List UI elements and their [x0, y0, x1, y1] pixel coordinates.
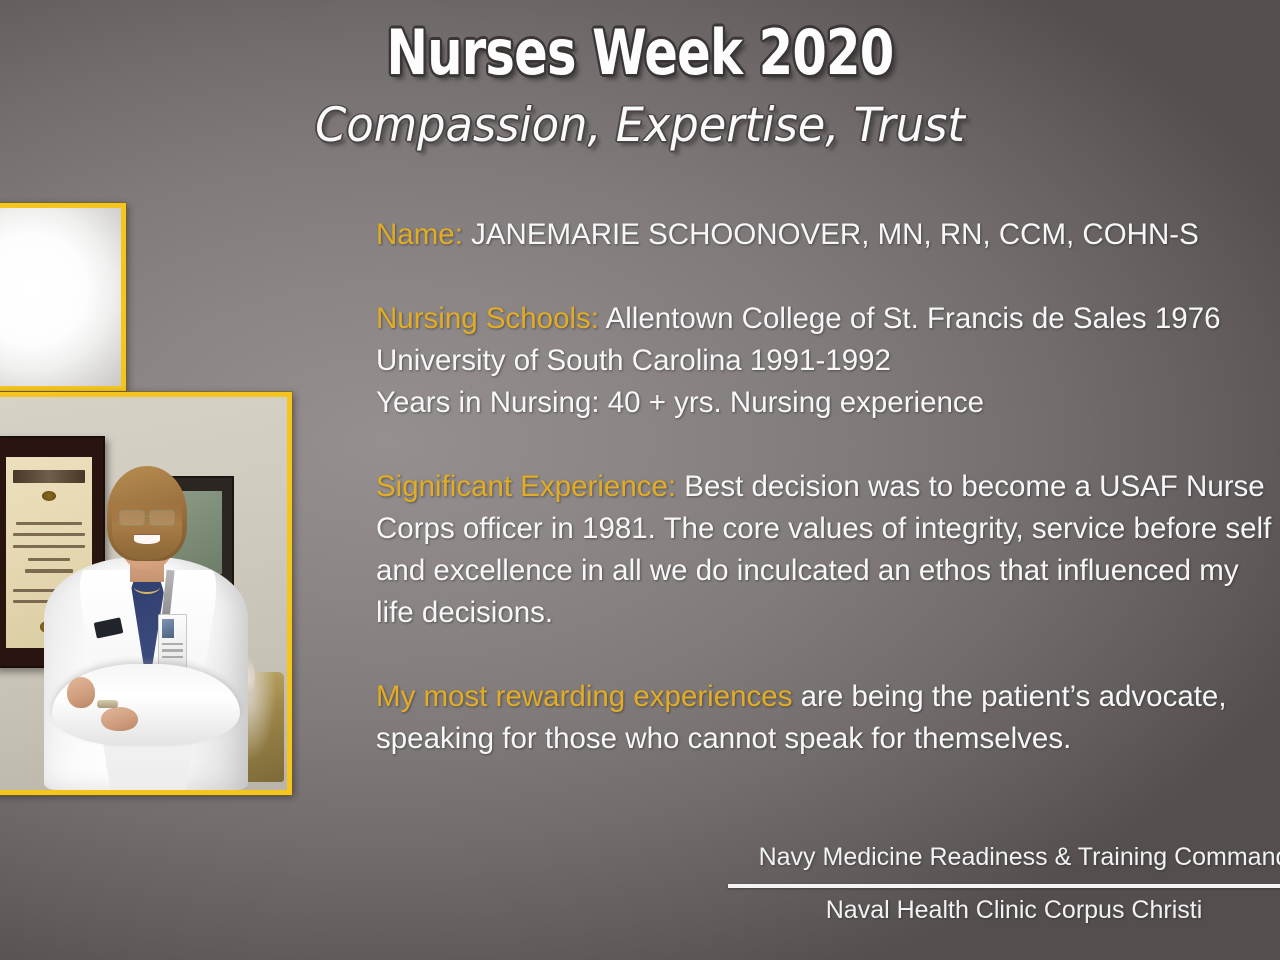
nurse-portrait-image — [0, 397, 287, 790]
text-spacer — [376, 634, 1280, 676]
name-value: JANEMARIE SCHOONOVER, MN, RN, CCM, COHN-… — [463, 218, 1199, 251]
name-label: Name: — [376, 218, 463, 251]
slide-footer: Navy Medicine Readiness & Training Comma… — [700, 840, 1280, 927]
smile — [134, 535, 161, 543]
bio-line-significant-2: Corps officer in 1981. The core values o… — [376, 508, 1280, 550]
photo-nurse-portrait — [0, 392, 292, 795]
footer-clinic-name: Naval Health Clinic Corpus Christi — [700, 893, 1280, 927]
presentation-slide: Nurses Week 2020 Compassion, Expertise, … — [0, 0, 1280, 960]
bio-text-block: Name: JANEMARIE SCHOONOVER, MN, RN, CCM,… — [376, 214, 1280, 760]
necklace — [134, 579, 161, 594]
footer-divider — [728, 884, 1280, 888]
badge-text-line — [162, 656, 183, 659]
bio-line-rewarding-2: speaking for those who cannot speak for … — [376, 718, 1280, 760]
lens-right — [149, 510, 174, 526]
lens-left — [119, 510, 144, 526]
hand-right — [101, 707, 139, 732]
significant-experience-value: Best decision was to become a USAF Nurse — [676, 470, 1265, 503]
badge-text-line — [162, 643, 183, 646]
crossed-arms — [52, 664, 240, 746]
nurse-figure — [44, 476, 248, 790]
eyeglasses — [119, 510, 174, 524]
title-block: Nurses Week 2020 Compassion, Expertise, … — [0, 22, 1280, 149]
nursing-schools-label: Nursing Schools: — [376, 302, 599, 335]
photo-top — [0, 203, 126, 391]
bio-line-name: Name: JANEMARIE SCHOONOVER, MN, RN, CCM,… — [376, 214, 1280, 256]
rewarding-experiences-label: My most rewarding experiences — [376, 680, 792, 713]
footer-command-name: Navy Medicine Readiness & Training Comma… — [700, 840, 1280, 874]
page-title: Nurses Week 2020 — [128, 22, 1152, 84]
significant-experience-label: Significant Experience: — [376, 470, 676, 503]
text-spacer — [376, 256, 1280, 298]
badge-photo — [162, 619, 174, 638]
bio-line-rewarding-1: My most rewarding experiences are being … — [376, 676, 1280, 718]
bio-line-significant-4: life decisions. — [376, 592, 1280, 634]
rewarding-experiences-value: are being the patient’s advocate, — [792, 680, 1226, 713]
bio-line-significant-1: Significant Experience: Best decision wa… — [376, 466, 1280, 508]
text-spacer — [376, 424, 1280, 466]
nursing-schools-value: Allentown College of St. Francis de Sale… — [599, 302, 1221, 335]
hand-left — [67, 677, 95, 708]
bio-line-schools: Nursing Schools: Allentown College of St… — [376, 298, 1280, 340]
bio-line-years: Years in Nursing: 40 + yrs. Nursing expe… — [376, 382, 1280, 424]
overexposed-photo-image — [0, 208, 121, 386]
wristwatch — [97, 700, 118, 707]
bio-line-significant-3: and excellence in all we do inculcated a… — [376, 550, 1280, 592]
id-badge — [158, 614, 187, 669]
page-subtitle: Compassion, Expertise, Trust — [32, 102, 1248, 149]
bio-line-schools-2: University of South Carolina 1991-1992 — [376, 340, 1280, 382]
badge-text-line — [162, 649, 183, 652]
